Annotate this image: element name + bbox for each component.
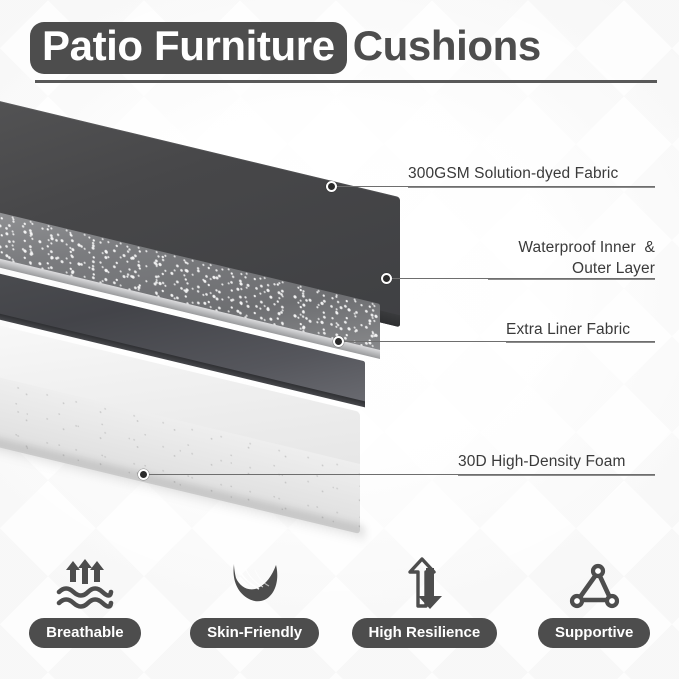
callout-underline-fabric	[408, 187, 655, 188]
feature-skin-friendly[interactable]: Skin-Friendly	[170, 556, 340, 666]
feature-breathable[interactable]: Breathable	[0, 556, 170, 666]
title-plain-text: Cushions	[347, 22, 541, 74]
callout-underline-waterproof	[488, 279, 655, 280]
feather-icon	[225, 556, 285, 612]
title-divider	[35, 80, 657, 83]
callout-label-waterproof: Waterproof Inner &Outer Layer	[415, 237, 655, 279]
title-highlight-badge: Patio Furniture	[30, 22, 347, 74]
feature-label-supportive: Supportive	[538, 618, 650, 648]
callout-underline-foam	[458, 475, 655, 476]
callout-label-waterproof-line1: Waterproof Inner &	[518, 239, 655, 256]
feature-badges: Breathable Skin-Friendly High Resili	[0, 556, 679, 666]
callout-marker-foam	[138, 469, 149, 480]
feature-label-high-resilience: High Resilience	[352, 618, 498, 648]
airflow-waves-icon	[54, 556, 116, 612]
callout-label-foam: 30D High-Density Foam	[458, 453, 626, 471]
feature-high-resilience[interactable]: High Resilience	[340, 556, 510, 666]
callout-underline-liner	[506, 342, 655, 343]
triangle-nodes-icon	[564, 556, 624, 612]
callout-marker-waterproof	[381, 273, 392, 284]
callout-marker-fabric	[326, 181, 337, 192]
up-down-arrows-icon	[397, 556, 451, 612]
exploded-layer-stack	[0, 120, 470, 520]
feature-label-breathable: Breathable	[29, 618, 141, 648]
callout-label-waterproof-line2: Outer Layer	[572, 260, 655, 277]
page-title: Patio Furniture Cushions	[30, 22, 541, 74]
infographic-canvas: Patio Furniture Cushions 300GSM Solution…	[0, 0, 679, 679]
callout-marker-liner	[333, 336, 344, 347]
feature-label-skin-friendly: Skin-Friendly	[190, 618, 319, 648]
header: Patio Furniture Cushions	[0, 0, 679, 95]
callout-label-fabric: 300GSM Solution-dyed Fabric	[408, 165, 618, 183]
callout-label-liner: Extra Liner Fabric	[506, 321, 630, 339]
feature-supportive[interactable]: Supportive	[509, 556, 679, 666]
